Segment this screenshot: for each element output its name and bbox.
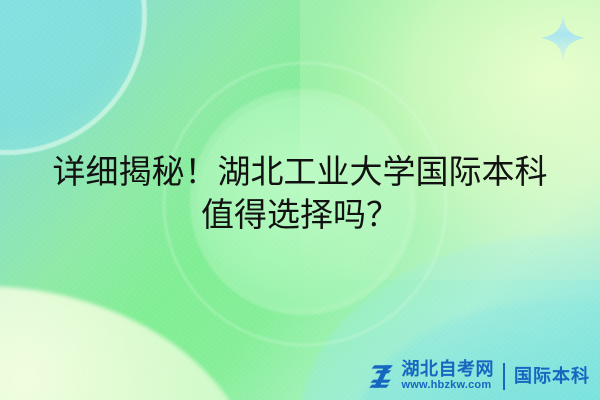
brand-primary-logo[interactable]: 湖北自考网 www.hbzkw.com bbox=[369, 360, 495, 392]
brand-logo-lockup[interactable]: 湖北自考网 www.hbzkw.com 国际本科 bbox=[369, 360, 591, 392]
logo-divider bbox=[503, 363, 505, 390]
background-wash-right bbox=[300, 0, 600, 280]
sparkle-icon bbox=[540, 12, 586, 64]
brand-name-cn: 湖北自考网 bbox=[402, 360, 495, 379]
brand-website-url: www.hbzkw.com bbox=[402, 379, 495, 392]
logo-tagline: 国际本科 bbox=[514, 367, 590, 386]
promo-banner: 详细揭秘！湖北工业大学国际本科 值得选择吗？ 湖北自考网 www.hbzkw.c… bbox=[0, 0, 600, 400]
circle-top-left-decoration bbox=[0, 0, 142, 150]
brand-wordmark: 湖北自考网 www.hbzkw.com bbox=[402, 360, 495, 392]
banner-headline: 详细揭秘！湖北工业大学国际本科 值得选择吗？ bbox=[0, 150, 600, 236]
swoosh-bottom-left-decoration bbox=[0, 286, 260, 400]
hbzkw-z-mark-icon bbox=[369, 363, 397, 390]
